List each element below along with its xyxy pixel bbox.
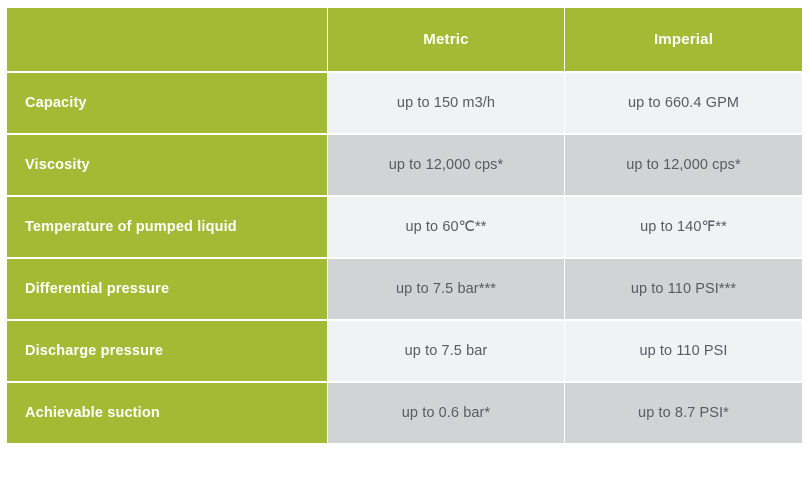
cell-achievable-suction-metric: up to 0.6 bar*	[328, 383, 564, 443]
cell-differential-pressure-metric: up to 7.5 bar***	[328, 259, 564, 319]
table-header: Metric Imperial	[7, 8, 802, 71]
table-body: Capacity up to 150 m3/h up to 660.4 GPM …	[7, 73, 802, 443]
table-row: Temperature of pumped liquid up to 60℃**…	[7, 197, 802, 257]
cell-discharge-pressure-imperial: up to 110 PSI	[565, 321, 802, 381]
table-row: Achievable suction up to 0.6 bar* up to …	[7, 383, 802, 443]
row-label-temperature-of-pumped-liquid: Temperature of pumped liquid	[7, 197, 327, 257]
cell-viscosity-imperial: up to 12,000 cps*	[565, 135, 802, 195]
row-label-capacity: Capacity	[7, 73, 327, 133]
column-header-imperial: Imperial	[565, 8, 802, 71]
row-label-achievable-suction: Achievable suction	[7, 383, 327, 443]
column-header-label	[7, 8, 327, 71]
row-label-viscosity: Viscosity	[7, 135, 327, 195]
table-header-row: Metric Imperial	[7, 8, 802, 71]
cell-capacity-imperial: up to 660.4 GPM	[565, 73, 802, 133]
specification-table-container: Metric Imperial Capacity up to 150 m3/h …	[6, 6, 801, 469]
cell-temperature-metric: up to 60℃**	[328, 197, 564, 257]
cell-achievable-suction-imperial: up to 8.7 PSI*	[565, 383, 802, 443]
cell-differential-pressure-imperial: up to 110 PSI***	[565, 259, 802, 319]
row-label-discharge-pressure: Discharge pressure	[7, 321, 327, 381]
cell-capacity-metric: up to 150 m3/h	[328, 73, 564, 133]
table-row: Discharge pressure up to 7.5 bar up to 1…	[7, 321, 802, 381]
table-row: Capacity up to 150 m3/h up to 660.4 GPM	[7, 73, 802, 133]
cell-viscosity-metric: up to 12,000 cps*	[328, 135, 564, 195]
row-label-differential-pressure: Differential pressure	[7, 259, 327, 319]
cell-discharge-pressure-metric: up to 7.5 bar	[328, 321, 564, 381]
table-row: Differential pressure up to 7.5 bar*** u…	[7, 259, 802, 319]
cell-temperature-imperial: up to 140℉**	[565, 197, 802, 257]
specification-table: Metric Imperial Capacity up to 150 m3/h …	[6, 6, 803, 445]
column-header-metric: Metric	[328, 8, 564, 71]
table-row: Viscosity up to 12,000 cps* up to 12,000…	[7, 135, 802, 195]
